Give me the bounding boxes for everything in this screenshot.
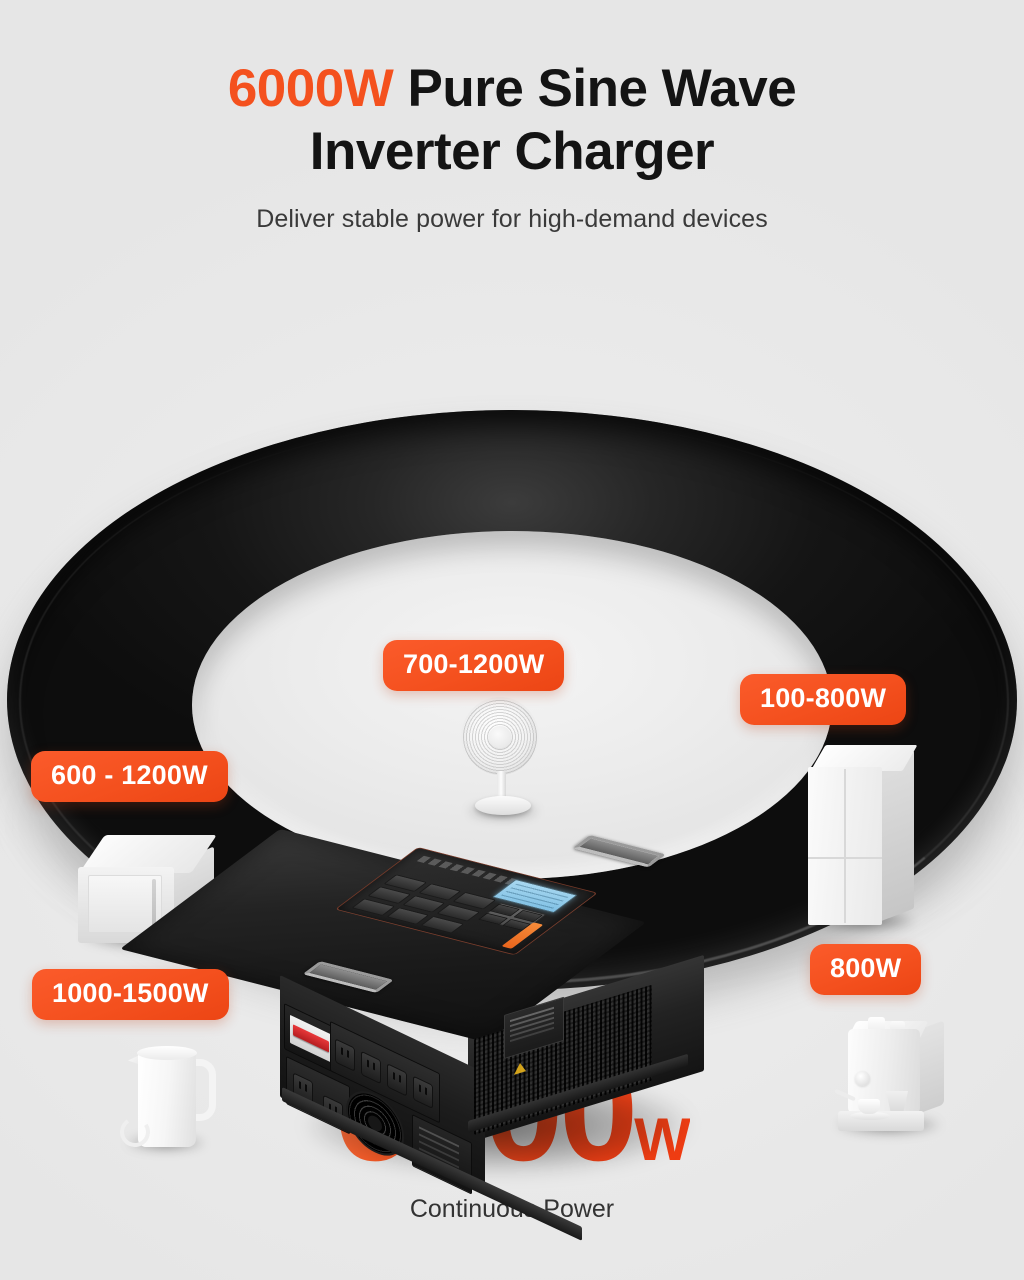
front-panel-label-lines	[419, 1126, 459, 1147]
fridge-door-seam-horizontal	[808, 857, 882, 859]
appliance-pedestal-fan	[455, 697, 551, 815]
page-title-line2: Inverter Charger	[0, 121, 1024, 184]
headline-rest: Pure Sine Wave	[393, 59, 796, 118]
appliance-refrigerator	[808, 745, 920, 935]
headline-accent: 6000W	[228, 59, 393, 118]
badge-electric-kettle: 1000-1500W	[32, 969, 229, 1020]
fridge-door-seam-vertical	[844, 769, 846, 923]
badge-coffee-machine: 800W	[810, 944, 921, 995]
kettle-lid	[137, 1046, 197, 1060]
header: 6000W Pure Sine Wave Inverter Charger De…	[0, 58, 1024, 234]
appliance-coffee-machine	[828, 1015, 964, 1141]
ac-outlet	[413, 1076, 433, 1110]
badge-pedestal-fan: 700-1200W	[383, 640, 564, 691]
badge-microwave: 600 - 1200W	[31, 751, 228, 802]
page-subtitle: Deliver stable power for high-demand dev…	[0, 205, 1024, 234]
page-title: 6000W Pure Sine Wave	[0, 58, 1024, 121]
fan-base	[475, 796, 531, 815]
fan-hub	[489, 726, 511, 748]
fridge-side-panel	[880, 750, 914, 921]
badge-refrigerator: 100-800W	[740, 674, 906, 725]
fan-grille	[461, 697, 539, 777]
ac-outlet	[361, 1051, 381, 1085]
appliance-electric-kettle	[118, 1037, 228, 1153]
coffee-control-knob	[855, 1071, 870, 1086]
product-inverter-charger	[268, 825, 716, 1173]
product-stage: 700-1200W 100-800W 600 - 1200W 1000-1500…	[0, 285, 1024, 1005]
ac-outlet	[335, 1038, 355, 1072]
coffee-serving-cup	[858, 1099, 880, 1114]
ac-outlet	[387, 1063, 407, 1097]
infographic-page: 6000W Pure Sine Wave Inverter Charger De…	[0, 0, 1024, 1280]
inverter-rear-handle	[572, 835, 666, 868]
